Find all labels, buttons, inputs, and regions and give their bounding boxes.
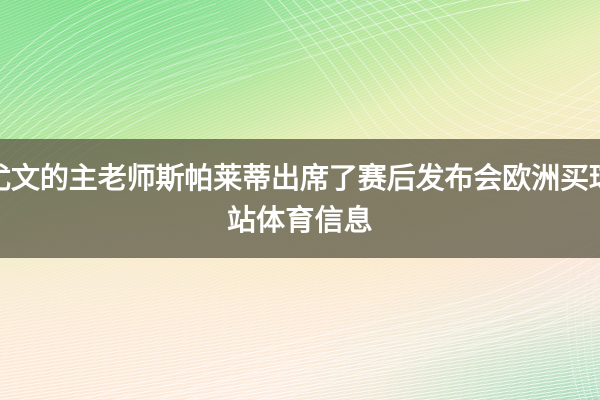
banner-image: 尤文的主老师斯帕莱蒂出席了赛后发布会欧洲买球 站体育信息 [0, 0, 600, 400]
bottom-wave-texture [0, 247, 600, 400]
caption-line-2: 站体育信息 [227, 199, 373, 241]
caption-band: 尤文的主老师斯帕莱蒂出席了赛后发布会欧洲买球 站体育信息 [0, 139, 600, 258]
caption-line-1: 尤文的主老师斯帕莱蒂出席了赛后发布会欧洲买球 [0, 157, 600, 199]
